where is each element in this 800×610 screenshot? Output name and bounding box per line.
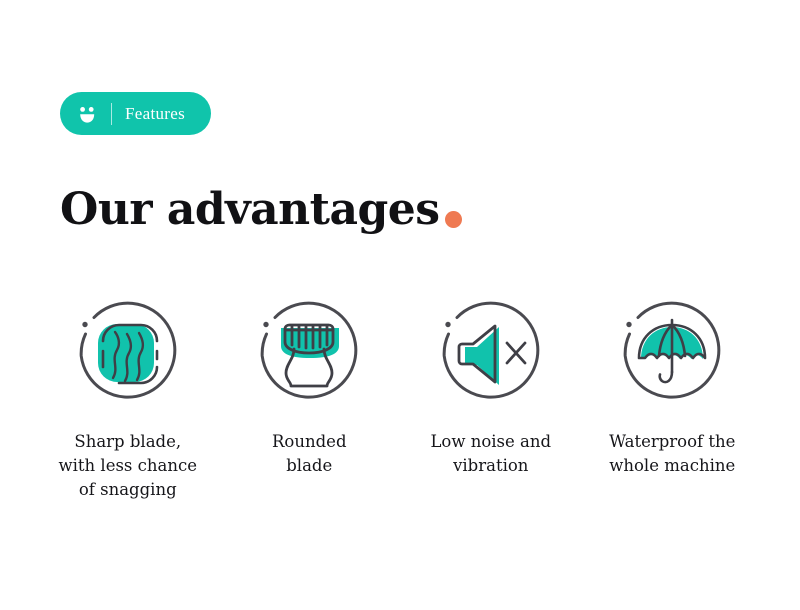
advantage-item: Sharp blade, with less chance of snaggin… (37, 296, 219, 502)
advantage-item: Waterproof the whole machine (582, 296, 764, 502)
advantage-caption: Sharp blade, with less chance of snaggin… (59, 430, 197, 502)
features-badge[interactable]: Features (60, 92, 211, 135)
slide-canvas: Features Our advantages (0, 0, 800, 610)
advantage-item: Rounded blade (219, 296, 401, 502)
badge-divider (111, 103, 112, 125)
smiley-face-icon (74, 101, 100, 127)
umbrella-icon (616, 296, 728, 408)
page-title-text: Our advantages (60, 186, 440, 234)
wavy-blade-foil-icon (72, 296, 184, 408)
rounded-clipper-head-icon (253, 296, 365, 408)
advantage-item: Low noise and vibration (400, 296, 582, 502)
accent-dot-icon (445, 211, 462, 228)
advantage-caption: Waterproof the whole machine (609, 430, 735, 478)
advantage-caption: Rounded blade (272, 430, 347, 478)
muted-speaker-icon (435, 296, 547, 408)
badge-label: Features (125, 104, 185, 124)
page-title: Our advantages (60, 186, 462, 234)
advantages-list: Sharp blade, with less chance of snaggin… (37, 296, 763, 502)
advantage-caption: Low noise and vibration (430, 430, 551, 478)
